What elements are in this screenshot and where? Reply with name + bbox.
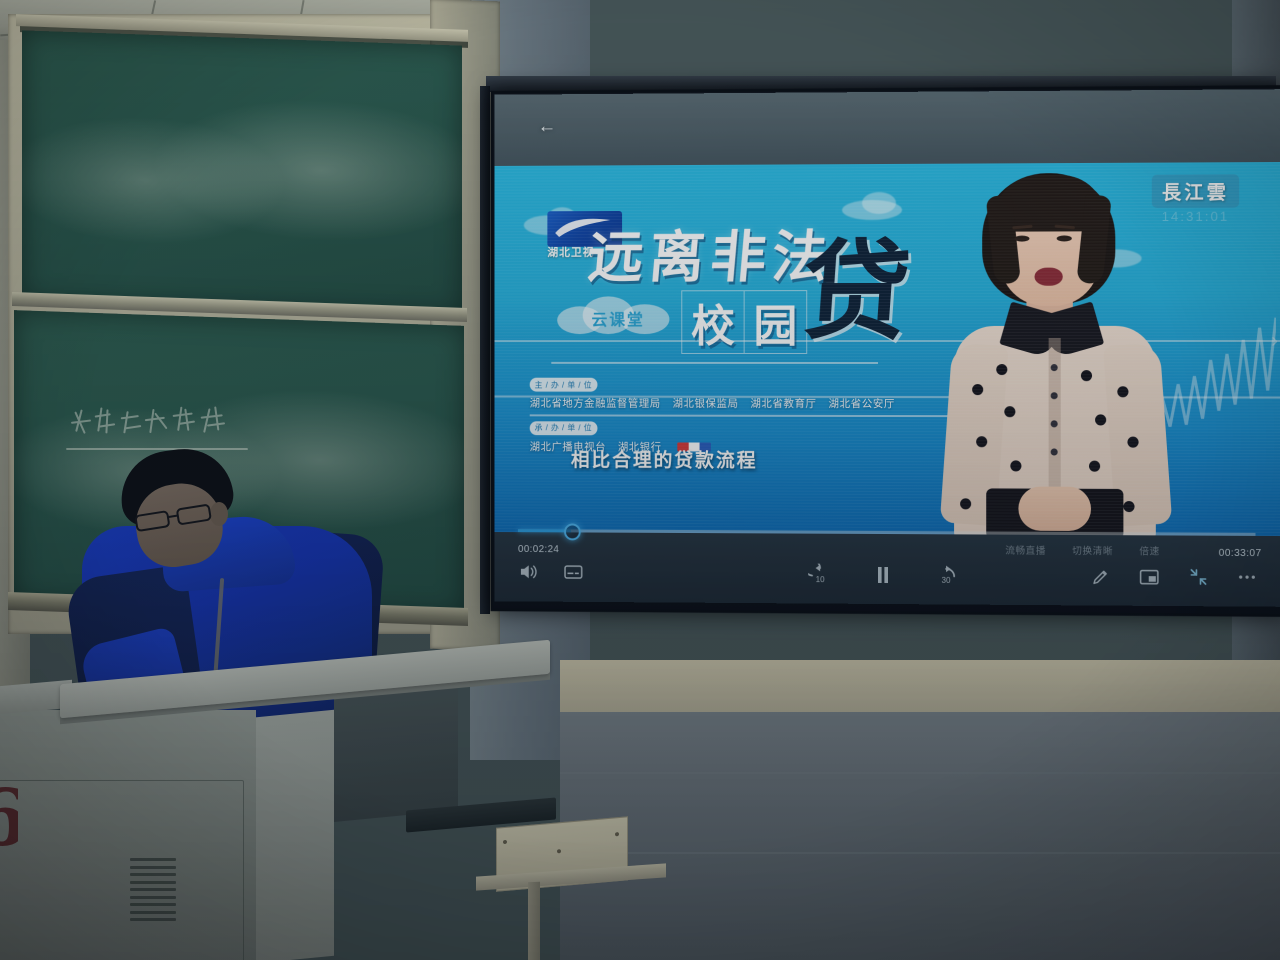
- cloud-decoration: [862, 192, 896, 214]
- host-orgs: 湖北省地方金融监督管理局湖北银保监局湖北省教育厅湖北省公安厅: [530, 396, 956, 412]
- pause-icon[interactable]: [876, 566, 890, 584]
- rewind-10-icon[interactable]: 10: [808, 564, 832, 586]
- chip-quality[interactable]: 切换清晰: [1072, 543, 1113, 557]
- svg-text:10: 10: [816, 575, 825, 584]
- forward-30-icon[interactable]: 30: [934, 564, 958, 586]
- wall-wainscot: [560, 660, 1280, 716]
- current-time: 00:02:24: [518, 544, 559, 555]
- coop-tag: 承 / 办 / 单 / 位: [530, 421, 597, 435]
- progress-knob[interactable]: [564, 523, 581, 540]
- chip-speed[interactable]: 倍速: [1139, 543, 1159, 557]
- progress-track[interactable]: [518, 529, 1256, 535]
- player-control-bar[interactable]: 00:02:24 00:33:07 流畅直播 切换清晰 倍速: [494, 532, 1280, 607]
- host-org: 湖北省公安厅: [829, 398, 895, 410]
- video-title-main: 远离非法: [585, 212, 838, 293]
- screen-bezel-left: [480, 86, 490, 614]
- video-title-accent: 贷: [798, 238, 913, 346]
- credits-divider: [530, 414, 956, 416]
- more-options-icon[interactable]: •••: [1239, 570, 1258, 584]
- podium-cabinet-door[interactable]: [0, 780, 244, 960]
- back-icon[interactable]: ←: [538, 118, 560, 136]
- title-rule: [551, 362, 878, 364]
- host-org: 湖北银保监局: [673, 398, 739, 410]
- chip-live[interactable]: 流畅直播: [1005, 543, 1046, 557]
- host-org: 湖北省教育厅: [750, 398, 816, 410]
- progress-fill: [518, 529, 571, 532]
- host-tag: 主 / 办 / 单 / 位: [530, 378, 597, 392]
- classroom-photo-scene: ← 湖北卫视 远离非法: [0, 0, 1280, 960]
- presenter-figure: [930, 167, 1182, 537]
- progress-bar[interactable]: [494, 524, 1280, 542]
- exit-fullscreen-icon[interactable]: [1190, 568, 1208, 586]
- quality-chips[interactable]: 流畅直播 切换清晰 倍速: [1005, 543, 1160, 558]
- podium-painted-mark: 6: [0, 780, 18, 890]
- lectern-podium: 6: [0, 662, 562, 960]
- video-subtitle: 相比合理的贷款流程: [571, 445, 758, 472]
- video-player[interactable]: ← 湖北卫视 远离非法: [494, 89, 1280, 607]
- player-top-bar: ←: [494, 89, 1280, 166]
- video-title-boxed: 校 园: [681, 290, 807, 354]
- picture-in-picture-icon[interactable]: [1140, 569, 1159, 584]
- video-frame: 湖北卫视 远离非法 云课堂 校 园 贷 主 / 办 / 单 / 位 湖北省地方金…: [494, 162, 1280, 536]
- podium-right-face: [246, 710, 334, 960]
- cloud-class-badge: 云课堂: [557, 294, 675, 338]
- title-box-char: 校: [681, 290, 744, 354]
- podium-vent-grille: [130, 858, 176, 932]
- host-org: 湖北省地方金融监督管理局: [530, 398, 661, 410]
- cloud-class-badge-label: 云课堂: [567, 306, 669, 330]
- next-chevron-icon[interactable]: ›: [1271, 330, 1278, 353]
- floor: [560, 712, 1280, 960]
- podium-support-leg: [528, 882, 540, 960]
- svg-text:30: 30: [942, 576, 951, 585]
- blackboard-panel-upper: [22, 30, 462, 315]
- credits-block: 主 / 办 / 单 / 位 湖北省地方金融监督管理局湖北银保监局湖北省教育厅湖北…: [530, 378, 956, 455]
- pen-icon[interactable]: [1092, 568, 1109, 585]
- total-time: 00:33:07: [1219, 548, 1262, 559]
